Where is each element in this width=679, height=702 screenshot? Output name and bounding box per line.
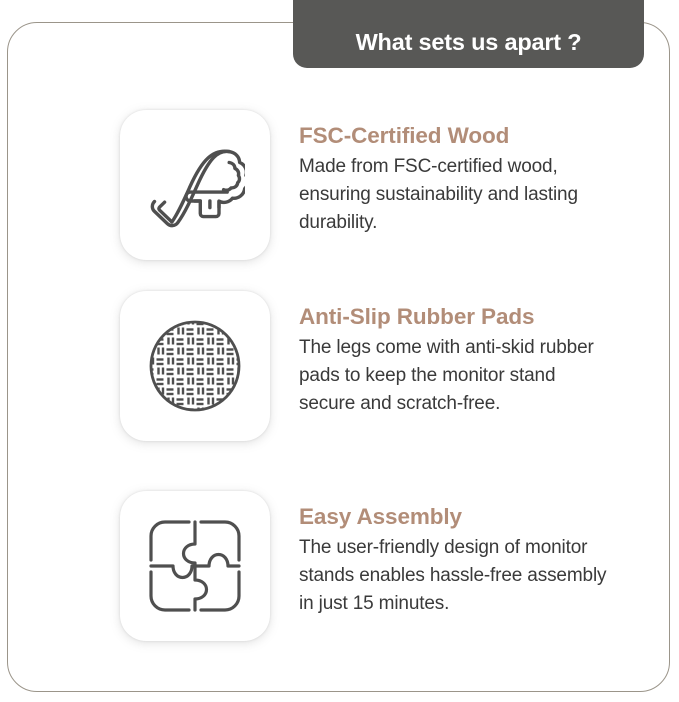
section-title: What sets us apart ? bbox=[356, 31, 582, 55]
feature-icon-card bbox=[120, 291, 270, 441]
feature-highlights-panel: What sets us apart ? bbox=[0, 0, 679, 702]
feature-icon-card bbox=[120, 110, 270, 260]
jigsaw-puzzle-icon bbox=[147, 518, 243, 614]
feature-title: Easy Assembly bbox=[299, 504, 630, 529]
feature-item-anti-slip-rubber-pads: Anti-Slip Rubber Pads The legs come with… bbox=[120, 291, 630, 441]
feature-title: FSC-Certified Wood bbox=[299, 123, 630, 148]
feature-text-block: Anti-Slip Rubber Pads The legs come with… bbox=[270, 291, 630, 418]
woven-rubber-pad-icon bbox=[145, 316, 245, 416]
section-header-banner: What sets us apart ? bbox=[293, 0, 644, 68]
feature-item-easy-assembly: Easy Assembly The user-friendly design o… bbox=[120, 491, 630, 641]
feature-title: Anti-Slip Rubber Pads bbox=[299, 304, 630, 329]
feature-text-block: FSC-Certified Wood Made from FSC-certifi… bbox=[270, 110, 630, 237]
feature-description: The user-friendly design of monitor stan… bbox=[299, 534, 609, 618]
feature-description: The legs come with anti-skid rubber pads… bbox=[299, 334, 609, 418]
feature-description: Made from FSC-certified wood, ensuring s… bbox=[299, 153, 609, 237]
feature-text-block: Easy Assembly The user-friendly design o… bbox=[270, 491, 630, 618]
fsc-tree-checkmark-icon bbox=[145, 139, 245, 231]
feature-icon-card bbox=[120, 491, 270, 641]
feature-item-fsc-certified-wood: FSC-Certified Wood Made from FSC-certifi… bbox=[120, 110, 630, 260]
